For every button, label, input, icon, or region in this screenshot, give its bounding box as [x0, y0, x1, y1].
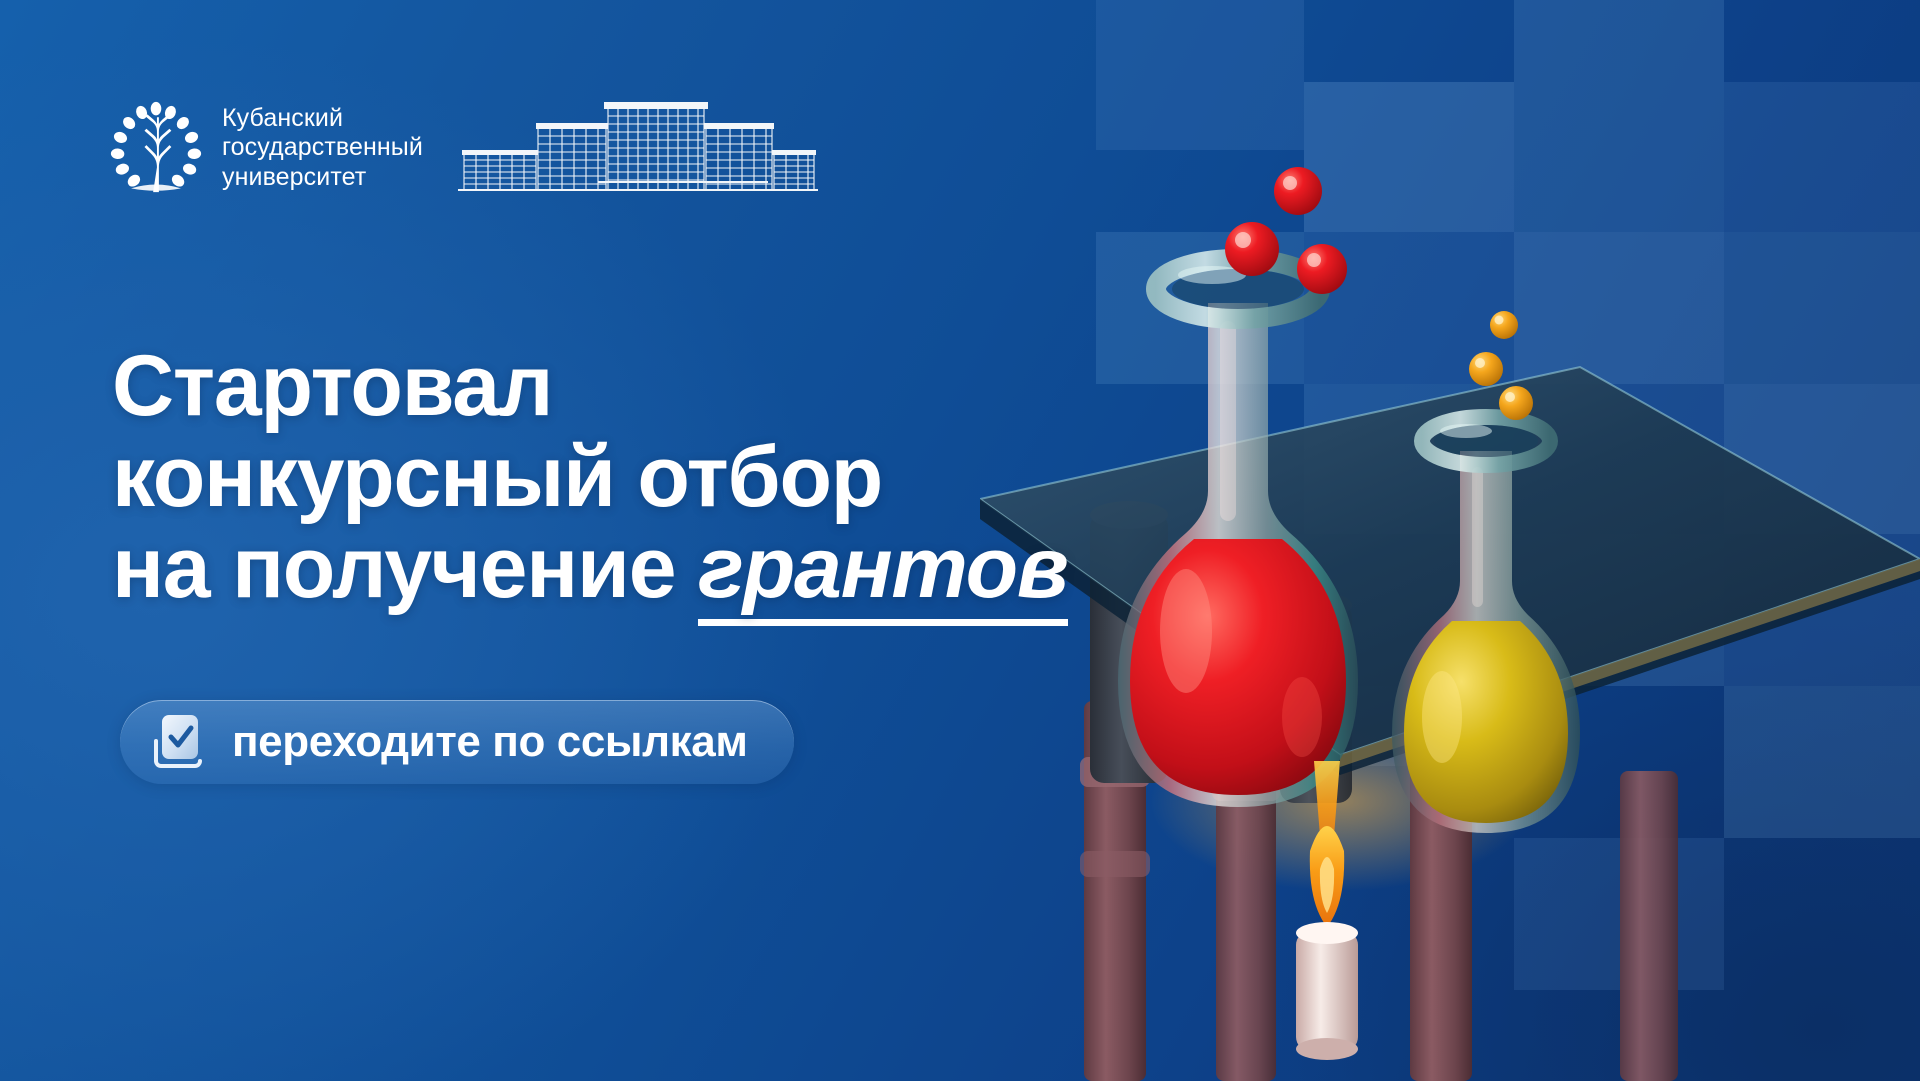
headline-line-2: конкурсный отбор	[112, 432, 1068, 523]
background-square	[1724, 82, 1920, 232]
headline-line-1: Стартовал	[112, 341, 1068, 432]
background-square	[1304, 384, 1514, 534]
headline-line-3: на получение грантов	[112, 523, 1068, 614]
background-square	[1096, 0, 1304, 150]
headline-accent-word: грантов	[698, 520, 1068, 626]
university-building-icon	[458, 98, 818, 194]
bunsen-burner	[1296, 761, 1358, 1060]
checkbox-card-icon	[150, 711, 208, 773]
follow-links-button[interactable]: переходите по ссылкам	[120, 700, 794, 784]
background-square	[1514, 82, 1724, 232]
background-square	[1304, 82, 1514, 232]
background-square	[1304, 232, 1514, 384]
background-square	[1724, 384, 1920, 534]
background-square	[1514, 0, 1724, 82]
background-square	[1724, 534, 1920, 686]
tree-emblem-icon	[108, 100, 204, 196]
page-title: Стартовал конкурсный отбор на получение …	[112, 341, 1068, 614]
background-square	[1514, 838, 1724, 990]
background-square	[1514, 534, 1724, 686]
background-square	[1304, 686, 1514, 766]
background-square	[1096, 232, 1304, 384]
university-name: Кубанский государственный университет	[222, 104, 423, 192]
background-square	[1724, 232, 1920, 384]
background-square	[1514, 232, 1724, 384]
background-square	[1514, 384, 1724, 534]
poster-canvas: Кубанский государственный университет	[0, 0, 1920, 1081]
follow-links-label: переходите по ссылкам	[232, 717, 748, 767]
university-logo: Кубанский государственный университет	[108, 100, 423, 196]
headline-line-3-prefix: на получение	[112, 520, 698, 616]
background-square	[1724, 686, 1920, 838]
